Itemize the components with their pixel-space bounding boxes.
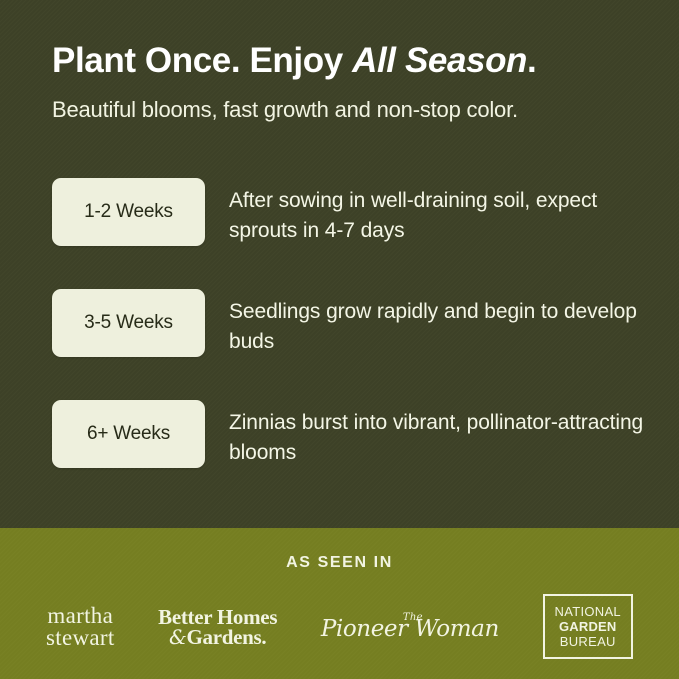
timeline-badge-2: 3-5 Weeks bbox=[52, 289, 205, 357]
headline-regular: Plant Once. Enjoy bbox=[52, 41, 352, 80]
bhg-line2: Gardens. bbox=[187, 625, 267, 649]
as-seen-in-banner: AS SEEN IN martha stewart Better Homes &… bbox=[0, 528, 679, 679]
press-logo-row: martha stewart Better Homes &Gardens. Th… bbox=[0, 594, 679, 659]
page-title: Plant Once. Enjoy All Season. bbox=[52, 40, 536, 82]
promo-infographic: Plant Once. Enjoy All Season. Beautiful … bbox=[0, 0, 679, 679]
timeline-description-3: Zinnias burst into vibrant, pollinator-a… bbox=[229, 400, 649, 468]
banner-title: AS SEEN IN bbox=[286, 554, 393, 572]
martha-stewart-line1: martha bbox=[47, 605, 113, 627]
timeline-badge-1: 1-2 Weeks bbox=[52, 178, 205, 246]
timeline-description-2: Seedlings grow rapidly and begin to deve… bbox=[229, 289, 649, 357]
badge-label: 3-5 Weeks bbox=[84, 312, 173, 334]
logo-martha-stewart: martha stewart bbox=[46, 605, 115, 649]
headline-period: . bbox=[527, 41, 536, 80]
timeline-description-1: After sowing in well-draining soil, expe… bbox=[229, 178, 649, 246]
logo-better-homes-and-gardens: Better Homes &Gardens. bbox=[158, 607, 277, 647]
badge-label: 1-2 Weeks bbox=[84, 201, 173, 223]
hero-section: Plant Once. Enjoy All Season. Beautiful … bbox=[0, 0, 679, 528]
logo-national-garden-bureau: NATIONAL GARDEN BUREAU bbox=[543, 594, 633, 659]
page-subtitle: Beautiful blooms, fast growth and non-st… bbox=[52, 96, 518, 124]
ngb-line3: BUREAU bbox=[560, 634, 616, 649]
growth-timeline: 1-2 Weeks After sowing in well-draining … bbox=[52, 178, 649, 468]
timeline-row: 6+ Weeks Zinnias burst into vibrant, pol… bbox=[52, 400, 649, 468]
ngb-line1: NATIONAL bbox=[555, 604, 621, 619]
bhg-line2-wrap: &Gardens. bbox=[169, 627, 266, 647]
timeline-row: 1-2 Weeks After sowing in well-draining … bbox=[52, 178, 649, 246]
badge-label: 6+ Weeks bbox=[87, 423, 170, 445]
timeline-badge-3: 6+ Weeks bbox=[52, 400, 205, 468]
logo-the-pioneer-woman: The Pioneer Woman bbox=[321, 613, 499, 641]
bhg-line1: Better Homes bbox=[158, 607, 277, 627]
ampersand-glyph: & bbox=[169, 625, 187, 649]
timeline-row: 3-5 Weeks Seedlings grow rapidly and beg… bbox=[52, 289, 649, 357]
headline-italic: All Season bbox=[352, 41, 527, 80]
ngb-line2: GARDEN bbox=[559, 619, 617, 634]
martha-stewart-line2: stewart bbox=[46, 627, 115, 649]
pioneer-woman-main: Pioneer Woman bbox=[321, 618, 499, 641]
